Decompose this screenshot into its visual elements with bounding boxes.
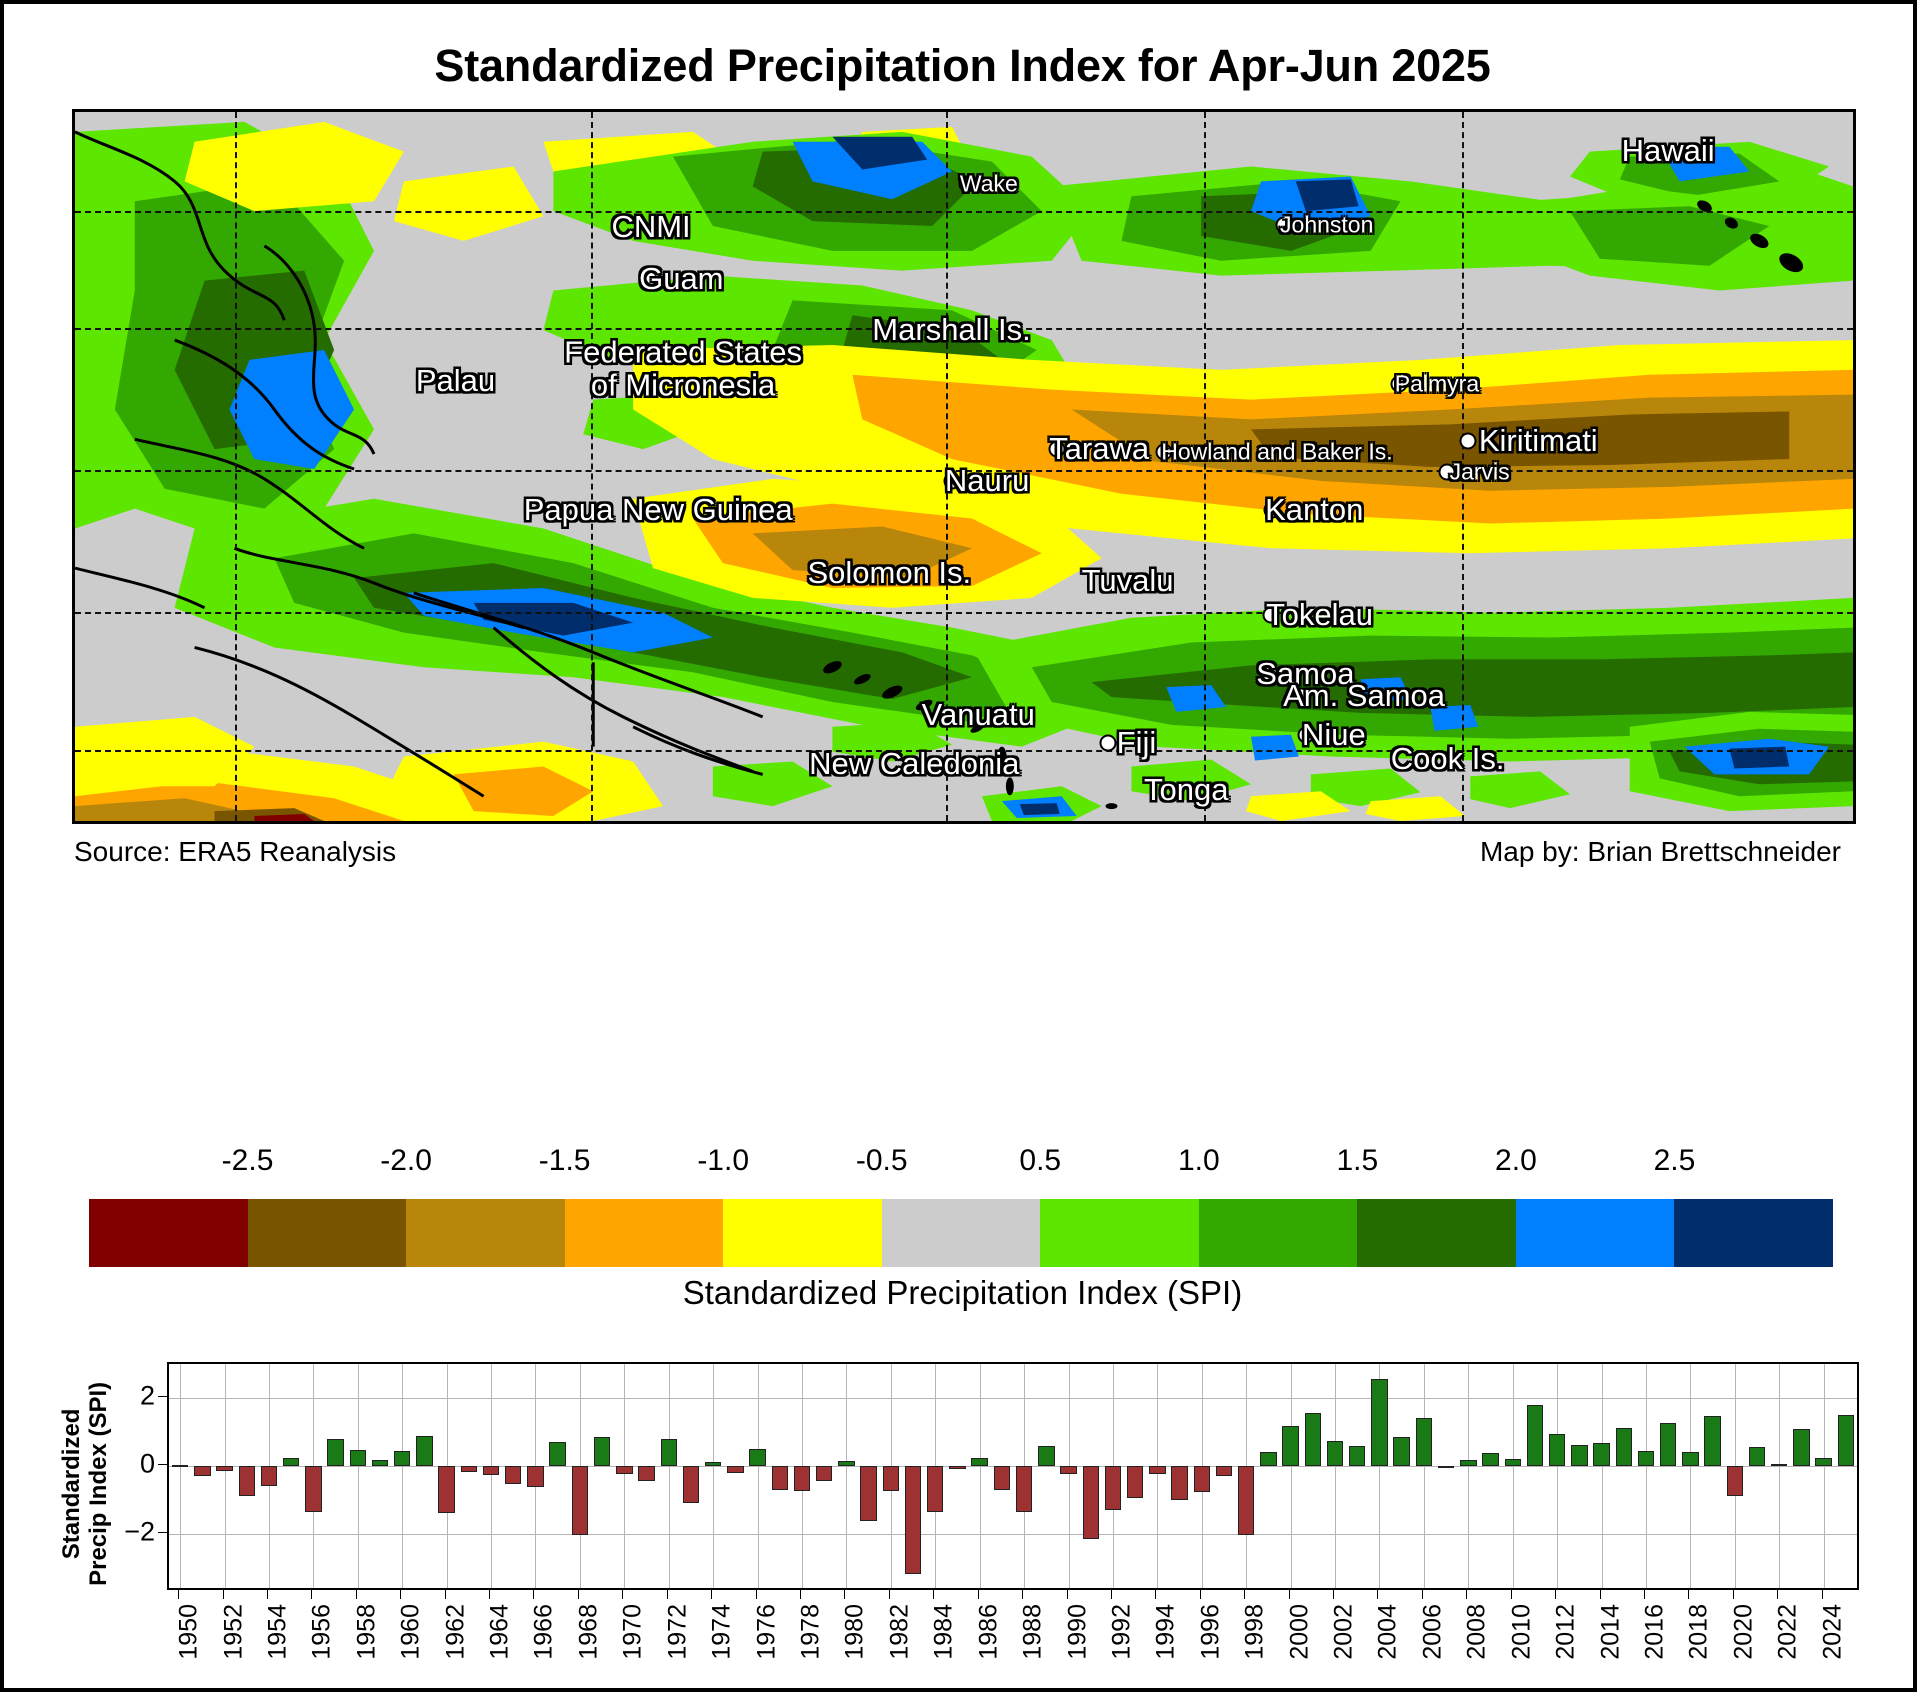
chart-gridline-vertical (1291, 1364, 1292, 1588)
chart-bar[interactable] (1527, 1405, 1543, 1466)
map-gridline-lon-5 (1462, 112, 1464, 821)
colorbar-segment[interactable] (723, 1199, 882, 1267)
chart-bar[interactable] (1194, 1466, 1210, 1492)
colorbar-segment[interactable] (89, 1199, 248, 1267)
chart-x-tick-mark (578, 1590, 579, 1599)
map-gridline-lat-3 (75, 470, 1853, 472)
map-marker-dot (1264, 502, 1281, 519)
chart-x-tick-mark (1600, 1590, 1601, 1599)
chart-bar[interactable] (1260, 1452, 1276, 1466)
chart-gridline-vertical (491, 1364, 492, 1588)
chart-bar[interactable] (505, 1466, 521, 1485)
chart-bar[interactable] (1704, 1416, 1720, 1466)
chart-bar[interactable] (772, 1466, 788, 1490)
chart-y-tick-mark (158, 1464, 167, 1465)
chart-x-tick-label: 1956 (308, 1604, 337, 1660)
chart-bar[interactable] (1371, 1379, 1387, 1466)
chart-bar[interactable] (483, 1466, 499, 1475)
map-gridline-lon-3 (946, 112, 948, 821)
chart-gridline-vertical (1424, 1364, 1425, 1588)
chart-x-tick-label: 1966 (530, 1604, 559, 1660)
chart-x-tick-label: 2018 (1685, 1604, 1714, 1660)
chart-bar[interactable] (1438, 1466, 1454, 1468)
chart-y-tick-mark (158, 1532, 167, 1533)
chart-x-tick-label: 1964 (486, 1604, 515, 1660)
chart-gridline-vertical (1824, 1364, 1825, 1588)
chart-x-tick-mark (711, 1590, 712, 1599)
chart-x-tick-mark (267, 1590, 268, 1599)
chart-x-tick-label: 1986 (974, 1604, 1003, 1660)
chart-x-tick-label: 1984 (930, 1604, 959, 1660)
chart-bar[interactable] (305, 1466, 321, 1512)
chart-x-tick-mark (667, 1590, 668, 1599)
colorbar-tick: 0.5 (1019, 1144, 1061, 1178)
chart-y-tick-label: 2 (105, 1380, 155, 1411)
chart-bar[interactable] (216, 1466, 232, 1471)
chart-bar[interactable] (549, 1442, 565, 1466)
chart-gridline-vertical (758, 1364, 759, 1588)
map-marker-dot (1391, 375, 1408, 392)
chart-x-tick-label: 1968 (574, 1604, 603, 1660)
chart-bar[interactable] (572, 1466, 588, 1536)
chart-bar[interactable] (438, 1466, 454, 1513)
map-marker-dot (645, 271, 662, 288)
chart-x-tick-mark (1111, 1590, 1112, 1599)
chart-x-tick-mark (311, 1590, 312, 1599)
map-marker-dot (1297, 727, 1314, 744)
chart-x-tick-label: 2024 (1818, 1604, 1847, 1660)
map-marker-dot (1262, 607, 1279, 624)
chart-x-tick-mark (1822, 1590, 1823, 1599)
chart-bar[interactable] (838, 1461, 854, 1466)
colorbar-segment[interactable] (1516, 1199, 1675, 1267)
chart-gridline-vertical (1690, 1364, 1691, 1588)
chart-gridline-vertical (846, 1364, 847, 1588)
chart-x-tick-mark (1200, 1590, 1201, 1599)
chart-x-tick-mark (1333, 1590, 1334, 1599)
chart-gridline-vertical (1157, 1364, 1158, 1588)
chart-x-tick-mark (1466, 1590, 1467, 1599)
map-marker-dot (944, 473, 961, 490)
chart-bar[interactable] (1771, 1464, 1787, 1466)
chart-bar[interactable] (1727, 1466, 1743, 1496)
chart-x-tick-label: 1972 (663, 1604, 692, 1660)
chart-x-tick-label: 2014 (1596, 1604, 1625, 1660)
chart-bar[interactable] (1660, 1423, 1676, 1465)
colorbar-tick: 2.0 (1495, 1144, 1537, 1178)
chart-bar[interactable] (239, 1466, 255, 1497)
source-credit: Source: ERA5 Reanalysis (74, 836, 396, 868)
chart-bar[interactable] (1815, 1458, 1831, 1465)
chart-x-tick-mark (400, 1590, 401, 1599)
chart-bar[interactable] (1105, 1466, 1121, 1510)
chart-x-tick-mark (1777, 1590, 1778, 1599)
map-contour-canvas (75, 112, 1853, 821)
chart-bar[interactable] (1216, 1466, 1232, 1476)
chart-gridline-vertical (713, 1364, 714, 1588)
chart-gridline-horizontal (169, 1466, 1857, 1467)
map-marker-dot (1262, 665, 1279, 682)
colorbar-segment[interactable] (882, 1199, 1041, 1267)
chart-gridline-horizontal (169, 1398, 1857, 1399)
chart-bar[interactable] (1571, 1445, 1587, 1466)
chart-x-tick-mark (1511, 1590, 1512, 1599)
chart-x-tick-mark (223, 1590, 224, 1599)
chart-bar[interactable] (416, 1436, 432, 1466)
map-marker-dot (959, 176, 976, 193)
colorbar-tick: -2.5 (222, 1144, 274, 1178)
chart-bar[interactable] (1482, 1453, 1498, 1466)
chart-x-tick-label: 1950 (175, 1604, 204, 1660)
chart-x-tick-mark (1244, 1590, 1245, 1599)
chart-bar[interactable] (1393, 1437, 1409, 1466)
map-gridline-lon-4 (1204, 112, 1206, 821)
chart-x-tick-label: 1974 (708, 1604, 737, 1660)
chart-bar[interactable] (372, 1460, 388, 1466)
chart-x-tick-mark (844, 1590, 845, 1599)
chart-gridline-vertical (1779, 1364, 1780, 1588)
colorbar-segment[interactable] (1674, 1199, 1833, 1267)
chart-bar[interactable] (1638, 1451, 1654, 1466)
chart-x-tick-mark (489, 1590, 490, 1599)
map-gridline-lat-2 (75, 328, 1853, 330)
chart-x-tick-label: 2010 (1507, 1604, 1536, 1660)
chart-x-tick-label: 2020 (1729, 1604, 1758, 1660)
chart-gridline-vertical (1602, 1364, 1603, 1588)
chart-bar[interactable] (1549, 1434, 1565, 1466)
chart-x-tick-label: 1988 (1019, 1604, 1048, 1660)
map-gridline-lon-1 (235, 112, 237, 821)
chart-bar[interactable] (327, 1439, 343, 1465)
colorbar-segment[interactable] (565, 1199, 724, 1267)
chart-gridline-vertical (1335, 1364, 1336, 1588)
chart-x-tick-mark (356, 1590, 357, 1599)
map-marker-dot (1049, 441, 1066, 458)
map-marker-dot (1439, 464, 1456, 481)
chart-bar[interactable] (1149, 1466, 1165, 1474)
chart-x-tick-mark (1022, 1590, 1023, 1599)
map-marker-dot (1460, 432, 1477, 449)
chart-bar[interactable] (661, 1439, 677, 1466)
chart-gridline-vertical (624, 1364, 625, 1588)
chart-gridline-vertical (1646, 1364, 1647, 1588)
chart-x-tick-label: 1960 (397, 1604, 426, 1660)
colorbar-segment[interactable] (406, 1199, 565, 1267)
chart-x-tick-mark (1067, 1590, 1068, 1599)
chart-bar[interactable] (283, 1458, 299, 1465)
chart-bar[interactable] (727, 1466, 743, 1473)
chart-bar[interactable] (1682, 1452, 1698, 1466)
chart-bar[interactable] (1505, 1459, 1521, 1466)
chart-x-tick-label: 1970 (619, 1604, 648, 1660)
chart-x-tick-label: 2016 (1641, 1604, 1670, 1660)
chart-bar[interactable] (638, 1466, 654, 1481)
chart-x-tick-label: 1992 (1107, 1604, 1136, 1660)
chart-bar[interactable] (261, 1466, 277, 1486)
colorbar-segment[interactable] (1357, 1199, 1516, 1267)
chart-bar[interactable] (683, 1466, 699, 1503)
chart-x-tick-mark (445, 1590, 446, 1599)
chart-bar[interactable] (994, 1466, 1010, 1490)
chart-bar[interactable] (1238, 1466, 1254, 1536)
colorbar-tick: 1.0 (1178, 1144, 1220, 1178)
chart-bar[interactable] (1616, 1428, 1632, 1466)
chart-bar[interactable] (1038, 1446, 1054, 1466)
chart-bar[interactable] (350, 1450, 366, 1466)
chart-bar[interactable] (194, 1466, 210, 1476)
chart-bar[interactable] (616, 1466, 632, 1474)
chart-bar[interactable] (1327, 1441, 1343, 1465)
chart-x-tick-mark (1422, 1590, 1423, 1599)
colorbar-title: Standardized Precipitation Index (SPI) (4, 1274, 1917, 1312)
chart-x-tick-mark (533, 1590, 534, 1599)
chart-x-tick-mark (1377, 1590, 1378, 1599)
chart-bar[interactable] (1460, 1460, 1476, 1466)
chart-x-tick-label: 2000 (1285, 1604, 1314, 1660)
chart-x-tick-label: 1990 (1063, 1604, 1092, 1660)
chart-bar[interactable] (527, 1466, 543, 1487)
chart-x-tick-mark (1155, 1590, 1156, 1599)
chart-x-tick-label: 1998 (1241, 1604, 1270, 1660)
chart-bar[interactable] (794, 1466, 810, 1491)
chart-y-axis-label: StandardizedPrecip Index (SPI) (66, 1361, 106, 1593)
chart-bar[interactable] (1349, 1446, 1365, 1466)
chart-x-tick-label: 2022 (1774, 1604, 1803, 1660)
chart-bar[interactable] (461, 1466, 477, 1472)
chart-bar[interactable] (949, 1466, 965, 1469)
chart-bar[interactable] (860, 1466, 876, 1521)
figure-frame: Standardized Precipitation Index for Apr… (0, 0, 1917, 1692)
chart-bar[interactable] (816, 1466, 832, 1481)
chart-x-tick-mark (178, 1590, 179, 1599)
chart-bar[interactable] (1282, 1426, 1298, 1466)
chart-bar[interactable] (1305, 1413, 1321, 1466)
chart-x-tick-label: 1980 (841, 1604, 870, 1660)
chart-bar[interactable] (1127, 1466, 1143, 1498)
chart-bar[interactable] (172, 1465, 188, 1467)
chart-bar[interactable] (394, 1451, 410, 1466)
chart-gridline-vertical (225, 1364, 226, 1588)
chart-x-tick-mark (622, 1590, 623, 1599)
page-title: Standardized Precipitation Index for Apr… (4, 40, 1917, 92)
colorbar-tick: 1.5 (1337, 1144, 1379, 1178)
colorbar-tick: -1.5 (539, 1144, 591, 1178)
colorbar-segment[interactable] (248, 1199, 407, 1267)
chart-x-tick-label: 1954 (263, 1604, 292, 1660)
chart-gridline-vertical (1069, 1364, 1070, 1588)
chart-gridline-vertical (402, 1364, 403, 1588)
chart-x-tick-label: 1996 (1196, 1604, 1225, 1660)
chart-x-tick-label: 1994 (1152, 1604, 1181, 1660)
chart-bar[interactable] (1749, 1447, 1765, 1466)
chart-x-tick-mark (933, 1590, 934, 1599)
spi-map[interactable]: HawaiiWakeJohnstonCNMIGuamMarshall Is.Fe… (72, 109, 1856, 824)
chart-x-tick-label: 1952 (219, 1604, 248, 1660)
map-marker-dot (1275, 217, 1292, 234)
map-gridline-lat-4 (75, 612, 1853, 614)
map-gridline-lat-5 (75, 750, 1853, 752)
colorbar-tick: -0.5 (856, 1144, 908, 1178)
colorbar-tick: -1.0 (697, 1144, 749, 1178)
chart-x-tick-label: 1978 (797, 1604, 826, 1660)
spi-colorbar[interactable] (89, 1199, 1833, 1267)
chart-bar[interactable] (1793, 1429, 1809, 1466)
chart-y-tick-label: −2 (105, 1516, 155, 1547)
chart-bar[interactable] (883, 1466, 899, 1491)
chart-y-tick-mark (158, 1396, 167, 1397)
colorbar-segment[interactable] (1040, 1199, 1199, 1267)
spi-timeseries-chart[interactable] (167, 1362, 1859, 1590)
chart-x-tick-mark (978, 1590, 979, 1599)
chart-bar[interactable] (705, 1462, 721, 1465)
chart-bar[interactable] (1838, 1415, 1854, 1466)
chart-bar[interactable] (1016, 1466, 1032, 1512)
author-credit: Map by: Brian Brettschneider (1480, 836, 1841, 868)
chart-bar[interactable] (905, 1466, 921, 1575)
chart-bar[interactable] (1593, 1443, 1609, 1466)
chart-x-tick-label: 2008 (1463, 1604, 1492, 1660)
chart-bar[interactable] (1416, 1418, 1432, 1466)
chart-bar[interactable] (749, 1449, 765, 1466)
chart-bar[interactable] (927, 1466, 943, 1512)
chart-gridline-vertical (1513, 1364, 1514, 1588)
chart-gridline-vertical (358, 1364, 359, 1588)
chart-bar[interactable] (1060, 1466, 1076, 1474)
map-marker-dot (1292, 688, 1309, 705)
chart-x-tick-label: 1958 (352, 1604, 381, 1660)
chart-x-tick-mark (756, 1590, 757, 1599)
colorbar-segment[interactable] (1199, 1199, 1358, 1267)
chart-gridline-vertical (669, 1364, 670, 1588)
chart-x-tick-label: 2004 (1374, 1604, 1403, 1660)
chart-gridline-vertical (1468, 1364, 1469, 1588)
chart-gridline-horizontal (169, 1534, 1857, 1535)
chart-x-tick-mark (1555, 1590, 1556, 1599)
map-marker-dot (1100, 735, 1117, 752)
chart-y-tick-label: 0 (105, 1448, 155, 1479)
colorbar-tick: 2.5 (1654, 1144, 1696, 1178)
chart-x-tick-mark (800, 1590, 801, 1599)
chart-x-tick-mark (1644, 1590, 1645, 1599)
chart-x-tick-label: 2006 (1418, 1604, 1447, 1660)
chart-x-tick-label: 1962 (441, 1604, 470, 1660)
chart-gridline-vertical (180, 1364, 181, 1588)
colorbar-tick: -2.0 (380, 1144, 432, 1178)
chart-x-tick-label: 2002 (1330, 1604, 1359, 1660)
chart-x-tick-mark (1289, 1590, 1290, 1599)
chart-gridline-vertical (1557, 1364, 1558, 1588)
chart-x-tick-label: 2012 (1552, 1604, 1581, 1660)
chart-gridline-vertical (980, 1364, 981, 1588)
chart-bar[interactable] (1171, 1466, 1187, 1500)
chart-x-tick-label: 1976 (752, 1604, 781, 1660)
map-gridline-lon-2 (591, 112, 593, 821)
colorbar-tick-labels: -2.5-2.0-1.5-1.0-0.50.51.01.52.02.5 (89, 1144, 1833, 1184)
chart-x-tick-mark (1733, 1590, 1734, 1599)
chart-x-tick-mark (889, 1590, 890, 1599)
map-gridline-lat-1 (75, 211, 1853, 213)
chart-bar[interactable] (1083, 1466, 1099, 1539)
chart-bar[interactable] (971, 1458, 987, 1465)
chart-bar[interactable] (594, 1437, 610, 1466)
chart-x-tick-label: 1982 (885, 1604, 914, 1660)
chart-x-tick-mark (1688, 1590, 1689, 1599)
map-marker-dot (1156, 444, 1173, 461)
